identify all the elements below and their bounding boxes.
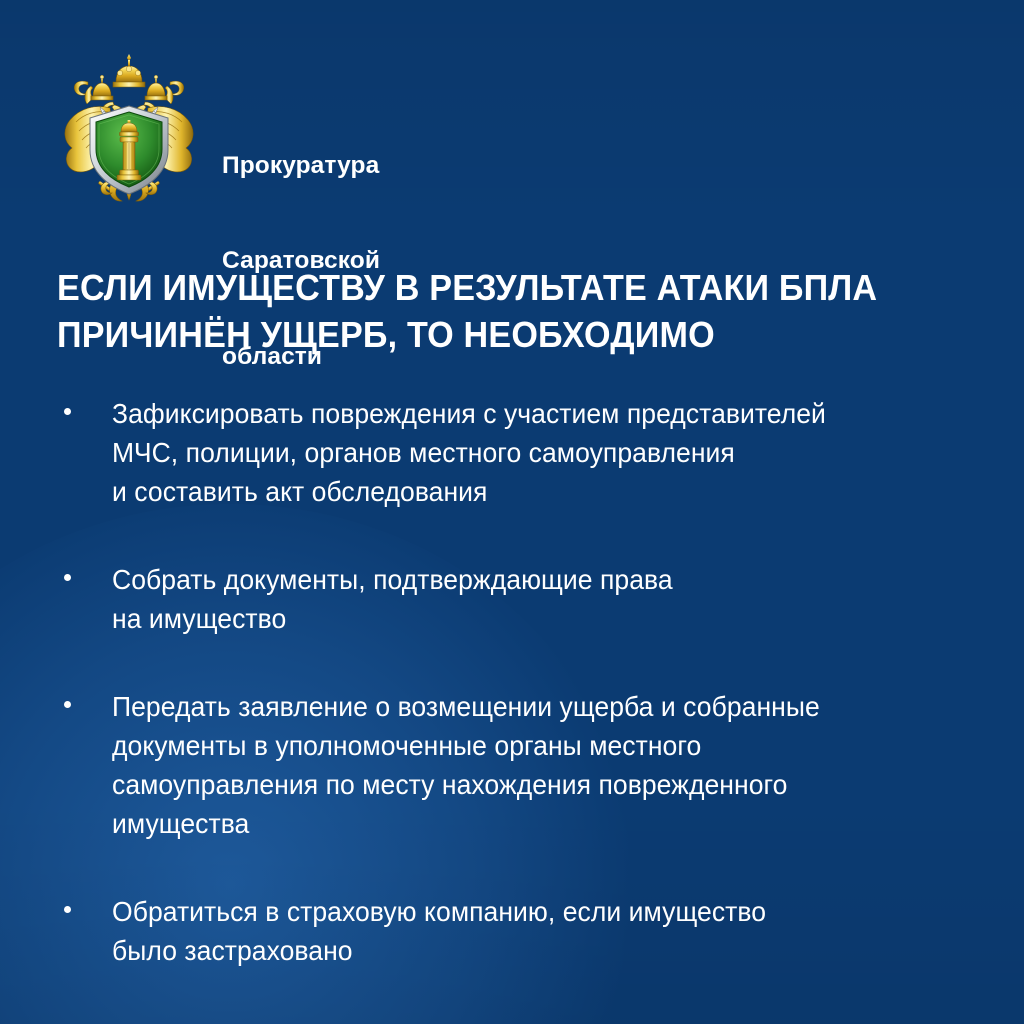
list-item-line: Собрать документы, подтверждающие права	[112, 560, 985, 599]
list-item: Обратиться в страховую компанию, если им…	[57, 892, 1017, 970]
bullet-dot-icon	[64, 574, 71, 581]
emblem-center-crown	[113, 54, 145, 87]
instruction-list: Зафиксировать повреждения с участием пре…	[57, 394, 1017, 971]
brand-lockup: Прокуратура Саратовской области	[58, 46, 380, 436]
bullet-dot-icon	[64, 906, 71, 913]
list-item-text: Обратиться в страховую компанию, если им…	[112, 892, 985, 970]
page-title-line-2: ПРИЧИНЁН УЩЕРБ, ТО НЕОБХОДИМО	[57, 311, 927, 358]
list-item-line: Зафиксировать повреждения с участием пре…	[112, 394, 985, 433]
list-item-line: было застраховано	[112, 931, 985, 970]
list-item-line: Передать заявление о возмещении ущерба и…	[112, 687, 985, 726]
list-item-text: Зафиксировать повреждения с участием пре…	[112, 394, 985, 511]
list-item-line: документы в уполномоченные органы местно…	[112, 726, 985, 765]
list-item: Передать заявление о возмещении ущерба и…	[57, 687, 1017, 843]
list-item-line: и составить акт обследования	[112, 472, 985, 511]
page-title: ЕСЛИ ИМУЩЕСТВУ В РЕЗУЛЬТАТЕ АТАКИ БПЛА П…	[57, 264, 927, 359]
brand-title-line-1: Прокуратура	[222, 150, 380, 182]
list-item-text: Передать заявление о возмещении ущерба и…	[112, 687, 985, 843]
list-item-line: Обратиться в страховую компанию, если им…	[112, 892, 985, 931]
prosecutor-office-emblem-icon	[58, 46, 200, 206]
list-item-text: Собрать документы, подтверждающие права …	[112, 560, 985, 638]
poster-canvas: Прокуратура Саратовской области ЕСЛИ ИМУ…	[0, 0, 1024, 1024]
list-item-line: имущества	[112, 804, 985, 843]
list-item-line: МЧС, полиции, органов местного самоуправ…	[112, 433, 985, 472]
list-item: Зафиксировать повреждения с участием пре…	[57, 394, 1017, 511]
emblem-shield	[90, 106, 168, 194]
bullet-dot-icon	[64, 701, 71, 708]
list-item-line: самоуправления по месту нахождения повре…	[112, 765, 985, 804]
list-item-line: на имущество	[112, 599, 985, 638]
poster-content: Прокуратура Саратовской области ЕСЛИ ИМУ…	[0, 0, 1024, 1024]
page-title-line-1: ЕСЛИ ИМУЩЕСТВУ В РЕЗУЛЬТАТЕ АТАКИ БПЛА	[57, 264, 927, 311]
brand-title: Прокуратура Саратовской области	[222, 86, 380, 436]
list-item: Собрать документы, подтверждающие права …	[57, 560, 1017, 638]
bullet-dot-icon	[64, 408, 71, 415]
